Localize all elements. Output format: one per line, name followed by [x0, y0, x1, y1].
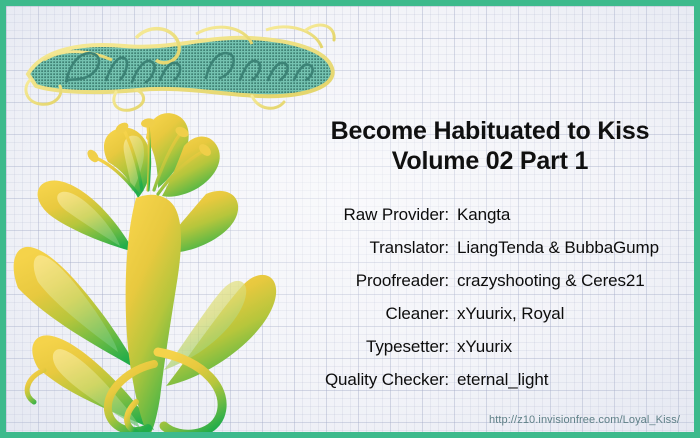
credit-label: Typesetter:: [286, 330, 449, 363]
credit-row-translator: Translator: LiangTenda & BubbaGump: [286, 231, 686, 264]
credit-value: xYuurix, Royal: [449, 297, 564, 330]
credit-label: Cleaner:: [286, 297, 449, 330]
credit-row-quality-checker: Quality Checker: eternal_light: [286, 363, 686, 396]
credit-row-typesetter: Typesetter: xYuurix: [286, 330, 686, 363]
credits-list: Raw Provider: Kangta Translator: LiangTe…: [286, 198, 686, 396]
title-line-2: Volume 02 Part 1: [300, 146, 680, 176]
credit-value: crazyshooting & Ceres21: [449, 264, 645, 297]
credit-label: Proofreader:: [286, 264, 449, 297]
credit-label: Translator:: [286, 231, 449, 264]
forum-url[interactable]: http://z10.invisionfree.com/Loyal_Kiss/: [489, 414, 680, 426]
title-line-1: Become Habituated to Kiss: [300, 116, 680, 146]
credit-value: xYuurix: [449, 330, 512, 363]
lily-flower-illustration: [8, 102, 308, 437]
credit-row-raw-provider: Raw Provider: Kangta: [286, 198, 686, 231]
credit-row-cleaner: Cleaner: xYuurix, Royal: [286, 297, 686, 330]
credit-value: LiangTenda & BubbaGump: [449, 231, 659, 264]
credit-label: Quality Checker:: [286, 363, 449, 396]
credit-value: eternal_light: [449, 363, 548, 396]
scanlation-credits-page: Become Habituated to Kiss Volume 02 Part…: [0, 0, 700, 438]
loyal-kiss-logo: [20, 16, 340, 116]
credit-value: Kangta: [449, 198, 510, 231]
credit-label: Raw Provider:: [286, 198, 449, 231]
page-title: Become Habituated to Kiss Volume 02 Part…: [300, 116, 680, 176]
credit-row-proofreader: Proofreader: crazyshooting & Ceres21: [286, 264, 686, 297]
